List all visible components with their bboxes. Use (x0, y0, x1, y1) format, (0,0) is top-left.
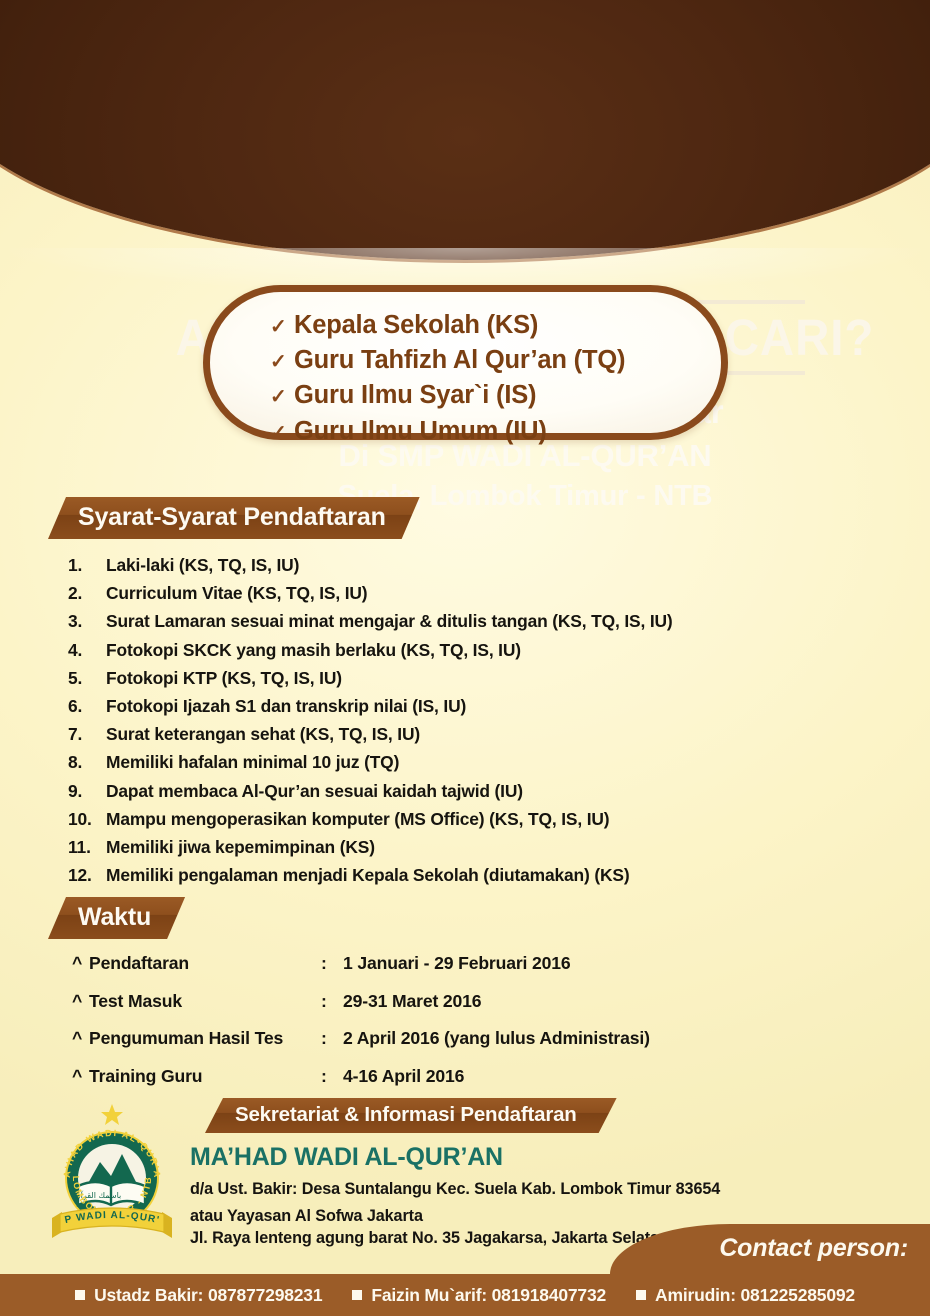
item-text: Fotokopi SKCK yang masih berlaku (KS, TQ… (106, 636, 521, 664)
schedule-value: 4-16 April 2016 (343, 1068, 832, 1086)
check-icon: ✓ (270, 384, 294, 412)
requirements-list: 1. Laki-laki (KS, TQ, IS, IU) 2. Curricu… (68, 551, 868, 889)
item-number: 5. (68, 664, 106, 692)
contact-name-phone: Ustadz Bakir: 087877298231 (94, 1285, 322, 1306)
list-item: 7. Surat keterangan sehat (KS, TQ, IS, I… (68, 720, 868, 748)
contact-person-label: Contact person: (719, 1234, 908, 1263)
item-number: 6. (68, 692, 106, 720)
star-icon (101, 1104, 123, 1125)
schedule-colon: : (321, 1068, 343, 1086)
position-label: Guru Ilmu Umum (IU) (294, 414, 547, 449)
item-text: Dapat membaca Al-Qur’an sesuai kaidah ta… (106, 777, 523, 805)
square-bullet-icon (352, 1290, 362, 1300)
list-item: 11. Memiliki jiwa kepemimpinan (KS) (68, 833, 868, 861)
square-bullet-icon (636, 1290, 646, 1300)
list-item: 10. Mampu mengoperasikan komputer (MS Of… (68, 805, 868, 833)
caret-icon: ^ (72, 955, 89, 973)
contact-entry[interactable]: Faizin Mu`arif: 081918407732 (352, 1285, 606, 1306)
item-number: 10. (68, 805, 106, 833)
item-number: 9. (68, 777, 106, 805)
schedule-label: Training Guru (89, 1068, 321, 1086)
positions-panel: ✓ Kepala Sekolah (KS) ✓ Guru Tahfizh Al … (203, 285, 728, 440)
header-banner (0, 0, 930, 260)
check-icon: ✓ (270, 349, 294, 377)
list-item: 12. Memiliki pengalaman menjadi Kepala S… (68, 861, 868, 889)
item-number: 12. (68, 861, 106, 889)
list-item: ✓ Guru Ilmu Syar`i (IS) (270, 378, 721, 413)
check-icon: ✓ (270, 314, 294, 342)
table-row: ^ Pendaftaran : 1 Januari - 29 Februari … (72, 955, 832, 973)
list-item: 6. Fotokopi Ijazah S1 dan transkrip nila… (68, 692, 868, 720)
item-text: Mampu mengoperasikan komputer (MS Office… (106, 805, 609, 833)
contact-entry[interactable]: Amirudin: 081225285092 (636, 1285, 855, 1306)
contact-name-phone: Amirudin: 081225285092 (655, 1285, 855, 1306)
address-line-2: atau Yayasan Al Sofwa Jakarta (190, 1207, 423, 1226)
secretariat-heading: Sekretariat & Informasi Pendaftaran (205, 1098, 617, 1133)
item-text: Fotokopi KTP (KS, TQ, IS, IU) (106, 664, 342, 692)
logo-svg: باسمك القرآن MA'HAD WADI AL-QUR'AN LOMBO… (48, 1102, 176, 1250)
check-icon: ✓ (270, 420, 294, 448)
schedule-heading: Waktu (48, 897, 185, 939)
list-item: 9. Dapat membaca Al-Qur’an sesuai kaidah… (68, 777, 868, 805)
contact-bar: Ustadz Bakir: 087877298231 Faizin Mu`ari… (0, 1274, 930, 1316)
list-item: 2. Curriculum Vitae (KS, TQ, IS, IU) (68, 579, 868, 607)
list-item: 1. Laki-laki (KS, TQ, IS, IU) (68, 551, 868, 579)
schedule-label: Test Masuk (89, 993, 321, 1011)
item-text: Fotokopi Ijazah S1 dan transkrip nilai (… (106, 692, 466, 720)
address-line-1: d/a Ust. Bakir: Desa Suntalangu Kec. Sue… (190, 1180, 720, 1199)
schedule-colon: : (321, 955, 343, 973)
item-text: Surat Lamaran sesuai minat mengajar & di… (106, 607, 673, 635)
list-item: ✓ Kepala Sekolah (KS) (270, 308, 721, 343)
schedule-colon: : (321, 993, 343, 1011)
list-item: 5. Fotokopi KTP (KS, TQ, IS, IU) (68, 664, 868, 692)
contact-name-phone: Faizin Mu`arif: 081918407732 (371, 1285, 606, 1306)
position-label: Guru Tahfizh Al Qur’an (TQ) (294, 343, 625, 378)
caret-icon: ^ (72, 993, 89, 1011)
list-item: 4. Fotokopi SKCK yang masih berlaku (KS,… (68, 636, 868, 664)
item-text: Surat keterangan sehat (KS, TQ, IS, IU) (106, 720, 420, 748)
list-item: ✓ Guru Tahfizh Al Qur’an (TQ) (270, 343, 721, 378)
school-logo: باسمك القرآن MA'HAD WADI AL-QUR'AN LOMBO… (48, 1102, 176, 1250)
item-text: Memiliki hafalan minimal 10 juz (TQ) (106, 748, 399, 776)
list-item: ✓ Guru Ilmu Umum (IU) (270, 414, 721, 449)
item-number: 2. (68, 579, 106, 607)
item-number: 4. (68, 636, 106, 664)
list-item: 8. Memiliki hafalan minimal 10 juz (TQ) (68, 748, 868, 776)
item-text: Laki-laki (KS, TQ, IS, IU) (106, 551, 299, 579)
organization-name: MA’HAD WADI AL-QUR’AN (190, 1143, 503, 1172)
requirements-heading: Syarat-Syarat Pendaftaran (48, 497, 420, 539)
table-row: ^ Test Masuk : 29-31 Maret 2016 (72, 993, 832, 1011)
schedule-label: Pengumuman Hasil Tes (89, 1030, 321, 1048)
position-label: Guru Ilmu Syar`i (IS) (294, 378, 536, 413)
caret-icon: ^ (72, 1068, 89, 1086)
poster-root: ANDAKAH YANG KAMI CARI? Dibutuhkan Staf … (0, 0, 930, 1316)
contact-entry[interactable]: Ustadz Bakir: 087877298231 (75, 1285, 322, 1306)
address-line-3: Jl. Raya lenteng agung barat No. 35 Jaga… (190, 1229, 669, 1248)
item-number: 3. (68, 607, 106, 635)
table-row: ^ Pengumuman Hasil Tes : 2 April 2016 (y… (72, 1030, 832, 1048)
schedule-value: 29-31 Maret 2016 (343, 993, 832, 1011)
list-item: 3. Surat Lamaran sesuai minat mengajar &… (68, 607, 868, 635)
schedule-value: 1 Januari - 29 Februari 2016 (343, 955, 832, 973)
item-number: 11. (68, 833, 106, 861)
table-row: ^ Training Guru : 4-16 April 2016 (72, 1068, 832, 1086)
item-number: 8. (68, 748, 106, 776)
position-label: Kepala Sekolah (KS) (294, 308, 538, 343)
item-text: Memiliki pengalaman menjadi Kepala Sekol… (106, 861, 630, 889)
schedule-value: 2 April 2016 (yang lulus Administrasi) (343, 1030, 832, 1048)
schedule-table: ^ Pendaftaran : 1 Januari - 29 Februari … (72, 955, 832, 1105)
positions-list: ✓ Kepala Sekolah (KS) ✓ Guru Tahfizh Al … (210, 292, 721, 449)
item-text: Memiliki jiwa kepemimpinan (KS) (106, 833, 375, 861)
schedule-label: Pendaftaran (89, 955, 321, 973)
schedule-colon: : (321, 1030, 343, 1048)
item-text: Curriculum Vitae (KS, TQ, IS, IU) (106, 579, 367, 607)
caret-icon: ^ (72, 1030, 89, 1048)
square-bullet-icon (75, 1290, 85, 1300)
item-number: 1. (68, 551, 106, 579)
item-number: 7. (68, 720, 106, 748)
